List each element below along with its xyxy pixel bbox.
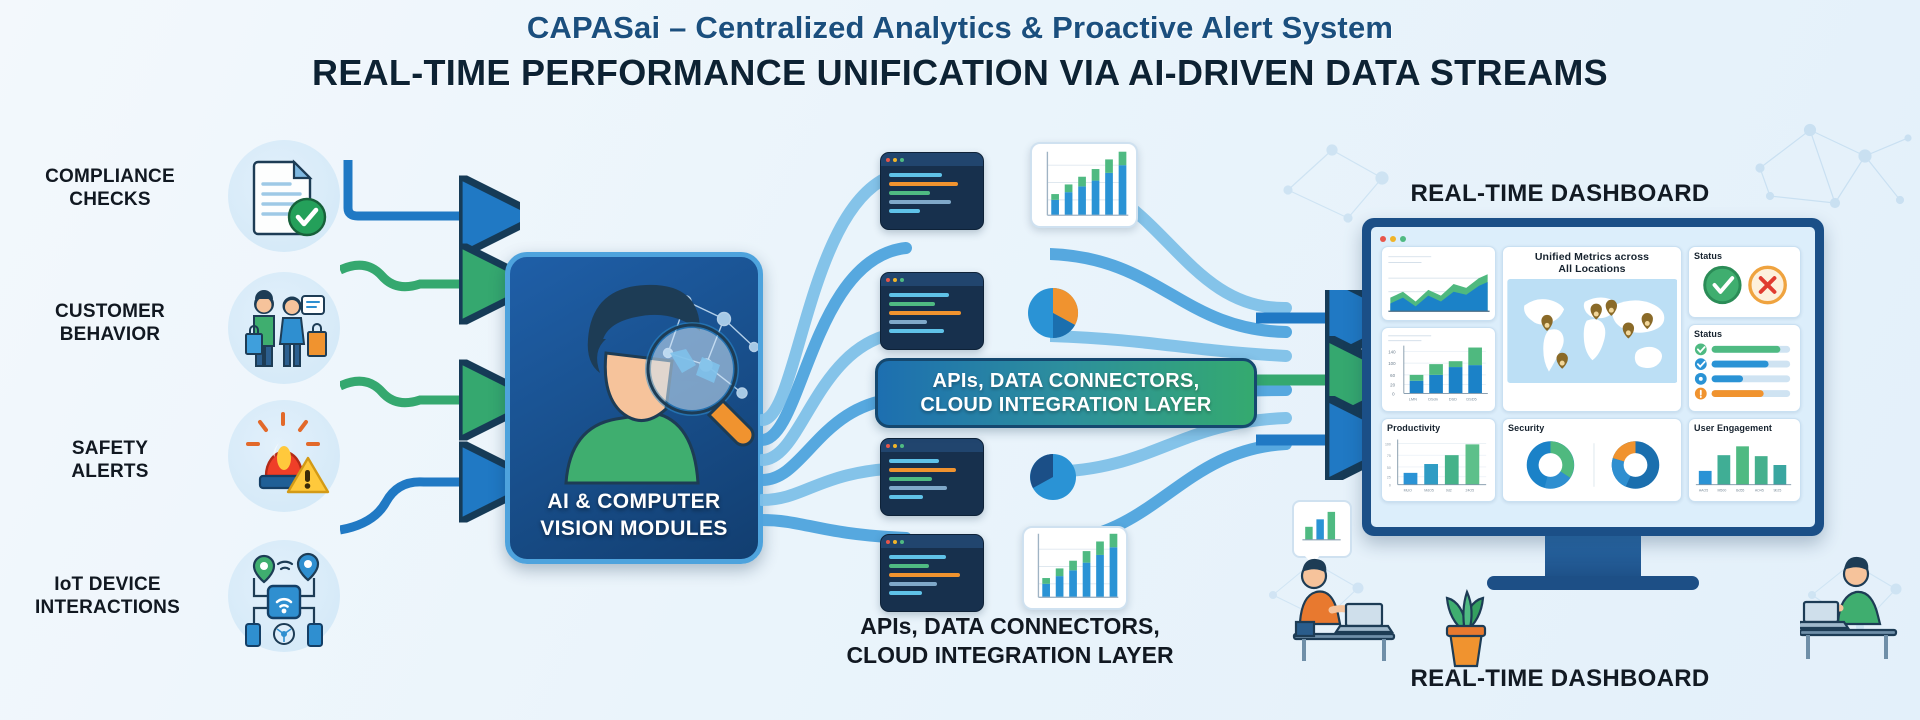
map-panel-title-line1: Unified Metrics across — [1535, 251, 1649, 263]
code-window-2 — [880, 272, 984, 350]
security-panel[interactable]: Security — [1502, 418, 1682, 502]
window-dot-green — [1400, 236, 1406, 242]
productivity-panel-title: Productivity — [1382, 419, 1495, 433]
window-dot-red — [1380, 236, 1386, 242]
window-dot-yellow — [893, 158, 897, 162]
svg-text:9d2: 9d2 — [1446, 489, 1452, 493]
unified-metrics-map-panel[interactable]: Unified Metrics across All Locations — [1502, 246, 1682, 412]
speech-bubble-mini-chart — [1294, 502, 1350, 546]
code-window-3 — [880, 438, 984, 516]
window-dot-green — [900, 540, 904, 544]
code-window-titlebar — [881, 153, 983, 166]
window-dot-green — [900, 278, 904, 282]
svg-text:AO45: AO45 — [1755, 489, 1764, 493]
code-window-4 — [880, 534, 984, 612]
pipeline-pie-top — [1022, 282, 1084, 344]
integration-layer-caption: APIs, DATA CONNECTORS, CLOUD INTEGRATION… — [760, 612, 1260, 670]
status-icons-panel-title: Status — [1689, 247, 1800, 261]
person-at-desk-left — [1270, 548, 1400, 668]
window-dot-yellow — [893, 278, 897, 282]
infographic-canvas: CAPASai – Centralized Analytics & Proact… — [0, 0, 1920, 720]
svg-text:75: 75 — [1387, 454, 1391, 458]
status-icons-panel[interactable]: Status — [1688, 246, 1801, 318]
ai-computer-vision-module[interactable]: AI & COMPUTER VISION MODULES — [505, 252, 763, 564]
status-bars-panel-title: Status — [1689, 325, 1800, 339]
integration-caption-line2: CLOUD INTEGRATION LAYER — [760, 641, 1260, 670]
productivity-panel[interactable]: Productivity 1007550250 — [1381, 418, 1496, 502]
dashboard-input-arrows — [1250, 290, 1380, 480]
integration-pill-line1: APIs, DATA CONNECTORS, — [932, 370, 1199, 392]
security-panel-title: Security — [1503, 419, 1681, 433]
shoppers-icon — [228, 272, 340, 384]
svg-text:DSD5: DSD5 — [1466, 396, 1476, 401]
dashboard-title-top: REAL-TIME DASHBOARD — [1330, 180, 1790, 208]
network-decoration-right — [1740, 108, 1920, 228]
code-window-1 — [880, 152, 984, 230]
code-window-titlebar — [881, 273, 983, 286]
world-map — [1507, 279, 1678, 383]
code-window-body — [881, 452, 983, 506]
svg-text:50: 50 — [1387, 466, 1391, 470]
real-time-dashboard-monitor[interactable]: 140100 60200 — [1362, 218, 1824, 536]
window-dot-green — [900, 444, 904, 448]
person-magnifier-neural-icon — [510, 257, 763, 492]
window-dot-yellow — [1390, 236, 1396, 242]
svg-text:25: 25 — [1387, 476, 1391, 480]
map-panel-title: Unified Metrics across All Locations — [1503, 247, 1681, 275]
pie-chart-card-2 — [1024, 448, 1082, 506]
svg-text:LMN: LMN — [1409, 396, 1417, 401]
svg-text:Bd55: Bd55 — [1736, 489, 1744, 493]
person-at-desk-right — [1800, 540, 1920, 670]
user-engagement-chart: AAO5M500Bd55 AO459b25 — [1689, 433, 1800, 497]
ai-module-label-line1: AI & COMPUTER — [510, 489, 758, 516]
svg-text:AAO5: AAO5 — [1699, 489, 1708, 493]
svg-text:100: 100 — [1388, 361, 1396, 366]
window-dot-yellow — [893, 444, 897, 448]
source-label-compliance: COMPLIANCE CHECKS — [5, 165, 215, 211]
dashboard-screen: 140100 60200 — [1371, 227, 1815, 527]
alarm-warning-icon — [228, 400, 340, 512]
pie-chart-card-1 — [1022, 282, 1084, 344]
source-label-iot: IoT DEVICE INTERACTIONS — [0, 573, 215, 619]
stacked-bar-panel[interactable]: 140100 60200 — [1381, 327, 1496, 412]
dashboard-window-titlebar — [1377, 233, 1809, 244]
window-dot-red — [886, 540, 890, 544]
status-progress-bars — [1689, 339, 1800, 401]
source-label-safety-line1: SAFETY — [5, 437, 215, 460]
svg-text:0: 0 — [1392, 391, 1395, 396]
potted-plant-icon — [1432, 566, 1498, 676]
security-donut-charts — [1503, 433, 1681, 497]
ai-module-label-line2: VISION MODULES — [510, 516, 758, 543]
source-label-compliance-line1: COMPLIANCE — [5, 165, 215, 188]
security-donut-right — [1612, 441, 1660, 488]
monitor-stand — [1545, 536, 1641, 580]
code-window-body — [881, 286, 983, 340]
svg-text:MdO5: MdO5 — [1424, 489, 1434, 493]
pipeline-bar-chart-top — [1032, 144, 1136, 227]
svg-text:DSdn: DSdn — [1428, 396, 1438, 401]
window-dot-red — [886, 278, 890, 282]
svg-text:9b25: 9b25 — [1773, 489, 1781, 493]
user-engagement-panel[interactable]: User Engagement AAO5M500Bd55 AO459b25 — [1688, 418, 1801, 502]
bar-chart-card-1 — [1030, 142, 1138, 228]
svg-text:140: 140 — [1388, 349, 1396, 354]
source-label-customer: CUSTOMER BEHAVIOR — [5, 300, 215, 346]
source-label-safety-line2: ALERTS — [5, 460, 215, 483]
dashboard-title-bottom: REAL-TIME DASHBOARD — [1330, 665, 1790, 693]
window-dot-red — [886, 158, 890, 162]
source-label-iot-line2: INTERACTIONS — [0, 596, 215, 619]
integration-layer-pill-text: APIs, DATA CONNECTORS, CLOUD INTEGRATION… — [920, 369, 1211, 418]
code-window-titlebar — [881, 439, 983, 452]
pipeline-pie-bottom — [1024, 448, 1082, 506]
window-dot-red — [886, 444, 890, 448]
integration-pill-line2: CLOUD INTEGRATION LAYER — [920, 394, 1211, 416]
integration-layer-pill[interactable]: APIs, DATA CONNECTORS, CLOUD INTEGRATION… — [875, 358, 1257, 428]
svg-text:60: 60 — [1390, 373, 1395, 378]
source-label-compliance-line2: CHECKS — [5, 188, 215, 211]
document-check-icon — [228, 140, 340, 252]
status-bars-panel[interactable]: Status — [1688, 324, 1801, 412]
svg-text:MUO: MUO — [1404, 489, 1412, 493]
monitor-base — [1487, 576, 1699, 590]
bar-chart-card-2 — [1022, 526, 1128, 610]
window-dot-yellow — [893, 540, 897, 544]
user-engagement-panel-title: User Engagement — [1689, 419, 1800, 433]
pipeline-bar-chart-bottom — [1024, 528, 1126, 609]
page-title: CAPASai – Centralized Analytics & Proact… — [0, 10, 1920, 46]
svg-text:20: 20 — [1390, 383, 1395, 388]
source-label-customer-line1: CUSTOMER — [5, 300, 215, 323]
security-donut-left — [1527, 441, 1574, 488]
source-label-iot-line1: IoT DEVICE — [0, 573, 215, 596]
map-panel-title-line2: All Locations — [1558, 263, 1625, 275]
page-subtitle: REAL-TIME PERFORMANCE UNIFICATION VIA AI… — [0, 52, 1920, 94]
input-arrows — [340, 150, 520, 620]
svg-text:0: 0 — [1389, 484, 1391, 488]
svg-text:DSD: DSD — [1449, 396, 1457, 401]
area-chart-panel[interactable] — [1381, 246, 1496, 321]
productivity-chart: 1007550250 MUOMdO59d224O5 — [1382, 433, 1495, 497]
svg-text:100: 100 — [1385, 442, 1391, 446]
window-dot-green — [900, 158, 904, 162]
integration-caption-line1: APIs, DATA CONNECTORS, — [760, 612, 1260, 641]
svg-text:M500: M500 — [1717, 489, 1726, 493]
source-label-customer-line2: BEHAVIOR — [5, 323, 215, 346]
iot-network-icon — [228, 540, 340, 652]
code-window-body — [881, 166, 983, 220]
ai-module-label: AI & COMPUTER VISION MODULES — [510, 489, 758, 543]
status-indicator-icons — [1689, 261, 1800, 309]
code-window-titlebar — [881, 535, 983, 548]
source-label-safety: SAFETY ALERTS — [5, 437, 215, 483]
svg-text:24O5: 24O5 — [1466, 489, 1475, 493]
code-window-body — [881, 548, 983, 602]
